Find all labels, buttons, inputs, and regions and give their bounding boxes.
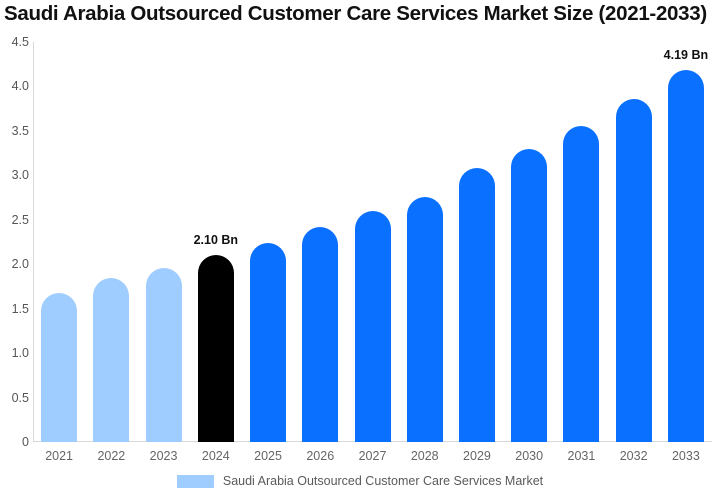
y-axis-tick-label: 3.0 bbox=[3, 168, 29, 182]
bar-group bbox=[668, 42, 704, 442]
bar-group bbox=[41, 42, 77, 442]
bar-group bbox=[93, 42, 129, 442]
legend-swatch-icon bbox=[177, 475, 214, 488]
x-axis-tick-label: 2024 bbox=[202, 449, 230, 463]
bar-value-label-2033: 4.19 Bn bbox=[664, 48, 708, 62]
bar-2026[interactable] bbox=[302, 227, 338, 442]
y-axis-tick-labels: 00.51.01.52.02.53.03.54.04.5 bbox=[0, 0, 29, 500]
y-axis-tick-label: 3.5 bbox=[3, 124, 29, 138]
bar-value-label-2024: 2.10 Bn bbox=[194, 233, 238, 247]
bar-2028[interactable] bbox=[407, 197, 443, 442]
chart-title: Saudi Arabia Outsourced Customer Care Se… bbox=[4, 2, 720, 26]
x-axis-tick-label: 2033 bbox=[672, 449, 700, 463]
y-axis-tick-label: 1.0 bbox=[3, 346, 29, 360]
bar-group bbox=[459, 42, 495, 442]
bar-2023[interactable] bbox=[146, 268, 182, 442]
x-axis-tick-label: 2029 bbox=[463, 449, 491, 463]
bar-group bbox=[563, 42, 599, 442]
bar-group bbox=[250, 42, 286, 442]
bar-2033[interactable] bbox=[668, 70, 704, 442]
y-axis-tick-label: 1.5 bbox=[3, 302, 29, 316]
bar-2030[interactable] bbox=[511, 149, 547, 442]
y-axis-tick-label: 4.5 bbox=[3, 35, 29, 49]
bar-group bbox=[407, 42, 443, 442]
bar-2025[interactable] bbox=[250, 243, 286, 442]
bar-group bbox=[355, 42, 391, 442]
bar-group bbox=[302, 42, 338, 442]
bar-2029[interactable] bbox=[459, 168, 495, 442]
x-axis-tick-label: 2021 bbox=[45, 449, 73, 463]
bar-2022[interactable] bbox=[93, 278, 129, 442]
chart-legend: Saudi Arabia Outsourced Customer Care Se… bbox=[0, 474, 720, 488]
x-axis-tick-label: 2027 bbox=[359, 449, 387, 463]
plot-area bbox=[33, 42, 712, 442]
y-axis-tick-label: 0 bbox=[3, 435, 29, 449]
y-axis-tick-label: 2.5 bbox=[3, 213, 29, 227]
x-axis-tick-label: 2023 bbox=[150, 449, 178, 463]
bar-2021[interactable] bbox=[41, 293, 77, 442]
bar-2027[interactable] bbox=[355, 211, 391, 442]
x-axis-tick-label: 2022 bbox=[97, 449, 125, 463]
bar-group bbox=[146, 42, 182, 442]
bar-2032[interactable] bbox=[616, 99, 652, 442]
bar-group bbox=[616, 42, 652, 442]
bar-2024[interactable] bbox=[198, 255, 234, 442]
chart-container: Saudi Arabia Outsourced Customer Care Se… bbox=[0, 0, 720, 500]
y-axis-tick-label: 2.0 bbox=[3, 257, 29, 271]
y-axis-tick-label: 4.0 bbox=[3, 79, 29, 93]
bar-2031[interactable] bbox=[563, 126, 599, 442]
x-axis-tick-label: 2031 bbox=[568, 449, 596, 463]
legend-label: Saudi Arabia Outsourced Customer Care Se… bbox=[223, 474, 543, 488]
y-axis-tick-label: 0.5 bbox=[3, 391, 29, 405]
x-axis-tick-label: 2026 bbox=[306, 449, 334, 463]
x-axis-tick-label: 2032 bbox=[620, 449, 648, 463]
x-axis-tick-label: 2025 bbox=[254, 449, 282, 463]
bar-group bbox=[511, 42, 547, 442]
x-axis-tick-label: 2028 bbox=[411, 449, 439, 463]
x-axis-tick-label: 2030 bbox=[515, 449, 543, 463]
